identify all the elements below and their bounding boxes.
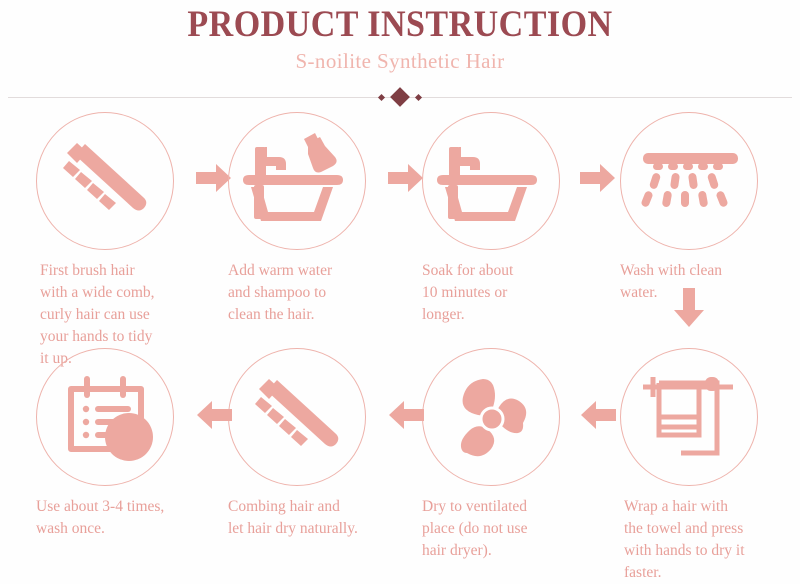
step-6-caption: Dry to ventilated place (do not use hair…	[422, 496, 608, 562]
arrow-down-4-to-5	[673, 288, 705, 333]
divider-small-diamond-left-icon	[378, 94, 385, 101]
step-5-icon-circle	[620, 348, 758, 486]
step-3-caption: Soak for about 10 minutes or longer.	[422, 260, 608, 326]
step-4: Wash with clean water.	[620, 112, 800, 304]
step-5: Wrap a hair with the towel and press wit…	[620, 348, 800, 584]
divider-large-diamond-icon	[390, 87, 410, 107]
step-8: Use about 3-4 times, wash once.	[36, 348, 222, 540]
step-8-icon-circle	[36, 348, 174, 486]
divider-small-diamond-right-icon	[415, 94, 422, 101]
step-3: Soak for about 10 minutes or longer.	[422, 112, 608, 326]
step-2-icon-circle	[228, 112, 366, 250]
step-7-icon-circle	[228, 348, 366, 486]
step-2-caption: Add warm water and shampoo to clean the …	[228, 260, 414, 326]
step-3-icon-circle	[422, 112, 560, 250]
bathtub-icon	[423, 113, 561, 251]
shower-head-icon	[621, 113, 759, 251]
diamond-divider	[0, 88, 800, 108]
fan-icon	[423, 349, 561, 487]
comb-icon	[229, 349, 367, 487]
product-instruction-infographic: PRODUCT INSTRUCTION S-noilite Synthetic …	[0, 0, 800, 584]
page-subtitle: S-noilite Synthetic Hair	[0, 49, 800, 74]
step-7-caption: Combing hair and let hair dry naturally.	[228, 496, 414, 540]
step-4-icon-circle	[620, 112, 758, 250]
bathtub-with-shampoo-bottle-icon	[229, 113, 367, 251]
step-6: Dry to ventilated place (do not use hair…	[422, 348, 608, 562]
step-1: First brush hair with a wide comb, curly…	[36, 112, 222, 370]
comb-icon	[37, 113, 175, 251]
step-4-caption: Wash with clean water.	[620, 260, 800, 304]
page-title: PRODUCT INSTRUCTION	[32, 6, 768, 45]
step-2: Add warm water and shampoo to clean the …	[228, 112, 414, 326]
towel-on-rail-icon	[621, 349, 759, 487]
step-5-caption: Wrap a hair with the towel and press wit…	[620, 496, 800, 584]
calendar-checklist-icon	[37, 349, 175, 487]
arrow-right-2-to-3	[388, 163, 424, 198]
step-7: Combing hair and let hair dry naturally.	[228, 348, 414, 540]
arrow-right-1-to-2	[196, 163, 232, 198]
step-6-icon-circle	[422, 348, 560, 486]
step-1-icon-circle	[36, 112, 174, 250]
step-8-caption: Use about 3-4 times, wash once.	[36, 496, 222, 540]
arrow-right-3-to-4	[580, 163, 616, 198]
header: PRODUCT INSTRUCTION S-noilite Synthetic …	[0, 0, 800, 74]
